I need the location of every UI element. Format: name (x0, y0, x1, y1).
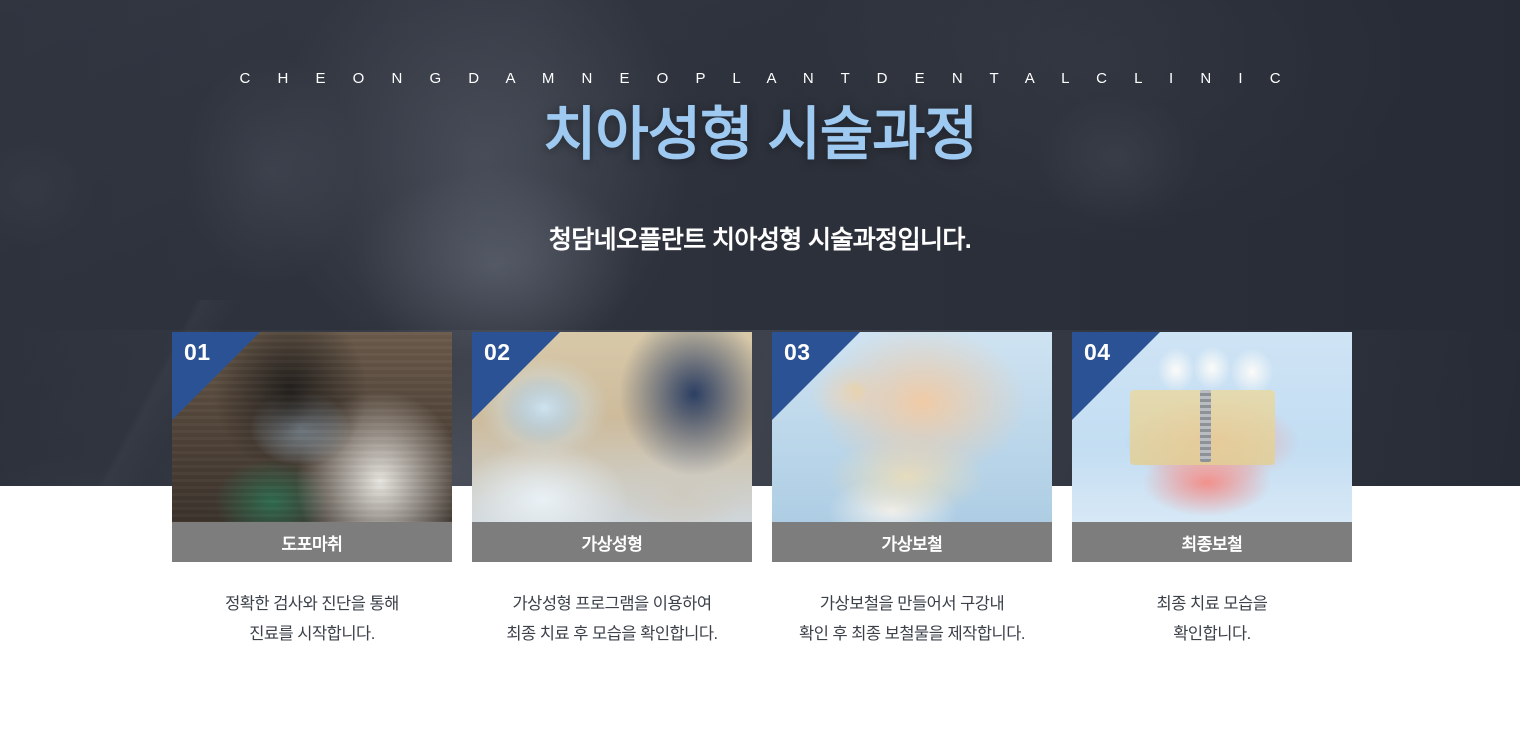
step-description-line-1: 정확한 검사와 진단을 통해 (172, 589, 452, 619)
step-title-label: 최종보철 (1182, 530, 1243, 555)
step-title-bar-04: 최종보철 (1072, 522, 1352, 562)
step-number-label: 02 (484, 341, 511, 364)
implant-screw-detail (1200, 390, 1211, 462)
step-image-01: 01 (172, 332, 452, 522)
step-description-line-1: 가상보철을 만들어서 구강내 (772, 589, 1052, 619)
step-description-line-2: 확인 후 최종 보철물을 제작합니다. (772, 619, 1052, 649)
step-number-badge-01: 01 (172, 332, 260, 420)
step-card-01[interactable]: 01 도포마취 정확한 검사와 진단을 통해 진료를 시작합니다. (172, 332, 452, 632)
page-subtitle: 청담네오플란트 치아성형 시술과정입니다. (0, 228, 1520, 253)
step-description-01: 정확한 검사와 진단을 통해 진료를 시작합니다. (172, 589, 452, 649)
step-description-line-2: 진료를 시작합니다. (172, 619, 452, 649)
step-description-02: 가상성형 프로그램을 이용하여 최종 치료 후 모습을 확인합니다. (472, 589, 752, 649)
step-number-label: 04 (1084, 341, 1111, 364)
step-description-line-1: 가상성형 프로그램을 이용하여 (472, 589, 752, 619)
step-card-04[interactable]: 04 최종보철 최종 치료 모습을 확인합니다. (1072, 332, 1352, 632)
step-number-badge-02: 02 (472, 332, 560, 420)
step-title-bar-03: 가상보철 (772, 522, 1052, 562)
step-title-label: 가상보철 (882, 530, 943, 555)
step-title-bar-01: 도포마취 (172, 522, 452, 562)
hero-text-block: C H E O N G D A M N E O P L A N T D E N … (0, 0, 1520, 253)
page-title: 치아성형 시술과정 (0, 102, 1520, 169)
step-description-04: 최종 치료 모습을 확인합니다. (1072, 589, 1352, 649)
step-description-line-1: 최종 치료 모습을 (1072, 589, 1352, 619)
step-title-bar-02: 가상성형 (472, 522, 752, 562)
clinic-name-overline: C H E O N G D A M N E O P L A N T D E N … (0, 71, 1520, 86)
step-number-label: 01 (184, 341, 211, 364)
step-card-02[interactable]: 02 가상성형 가상성형 프로그램을 이용하여 최종 치료 후 모습을 확인합니… (472, 332, 752, 632)
step-title-label: 가상성형 (582, 530, 643, 555)
step-image-02: 02 (472, 332, 752, 522)
step-image-04: 04 (1072, 332, 1352, 522)
step-description-line-2: 확인합니다. (1072, 619, 1352, 649)
step-number-badge-03: 03 (772, 332, 860, 420)
procedure-steps-list: 01 도포마취 정확한 검사와 진단을 통해 진료를 시작합니다. 02 가상성… (172, 332, 1352, 632)
step-number-badge-04: 04 (1072, 332, 1160, 420)
step-title-label: 도포마취 (282, 530, 343, 555)
step-number-label: 03 (784, 341, 811, 364)
step-image-03: 03 (772, 332, 1052, 522)
step-description-03: 가상보철을 만들어서 구강내 확인 후 최종 보철물을 제작합니다. (772, 589, 1052, 649)
step-description-line-2: 최종 치료 후 모습을 확인합니다. (472, 619, 752, 649)
step-card-03[interactable]: 03 가상보철 가상보철을 만들어서 구강내 확인 후 최종 보철물을 제작합니… (772, 332, 1052, 632)
